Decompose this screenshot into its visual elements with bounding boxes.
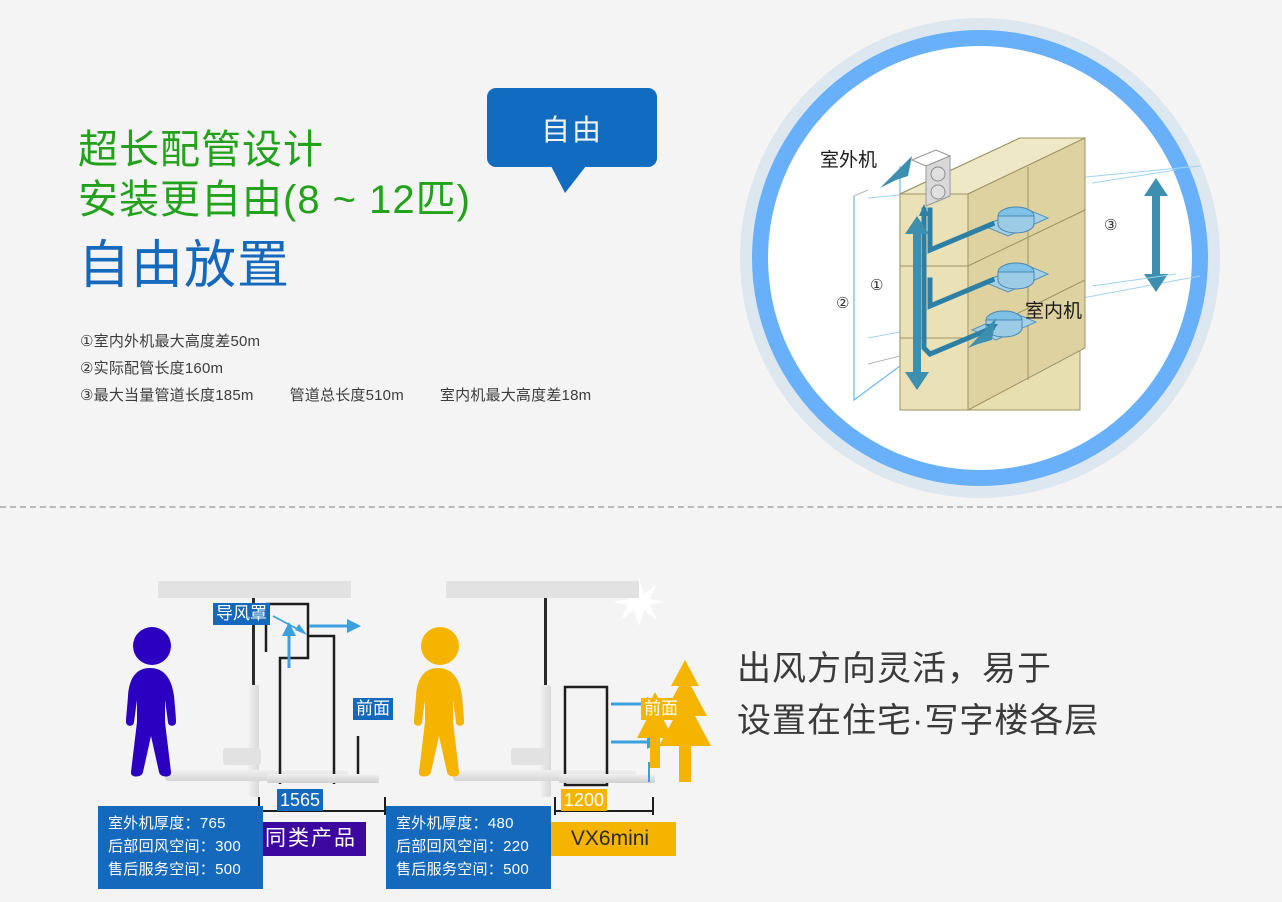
building-isometric-illustration — [740, 18, 1220, 498]
note-item: ②实际配管长度160m — [80, 355, 591, 382]
note-text: 实际配管长度160m — [94, 360, 224, 377]
headline-block: 超长配管设计 安装更自由(8 ~ 12匹) 自由放置 — [78, 125, 471, 301]
unit-base — [267, 774, 379, 783]
note-item-3: ③最大当量管道长度185m管道总长度510m室内机最大高度差18m — [80, 382, 591, 409]
baseboard — [511, 748, 549, 765]
spec-row: 后部回风空间：220 — [396, 835, 541, 858]
note-marker: ③ — [80, 387, 94, 404]
spec-box-vx6mini: 室外机厚度：480 后部回风空间：220 售后服务空间：500 — [386, 806, 551, 889]
diagram-callout-3: ③ — [1104, 216, 1117, 234]
spec-row: 售后服务空间：500 — [396, 858, 541, 881]
comparison-illustration: 导风罩 前面 1565 同类产品 室外机厚度：765 后部回风空间：300 — [95, 570, 695, 880]
label-guide-hood: 导风罩 — [213, 603, 270, 625]
spec-row: 室外机厚度：765 — [108, 812, 253, 835]
spec-value: 500 — [503, 861, 529, 878]
spec-value: 500 — [215, 861, 241, 878]
bubble-tail-icon — [551, 166, 586, 193]
person-figure — [405, 626, 491, 778]
bottom-copy-block: 出风方向灵活，易于 设置在住宅·写字楼各层 — [737, 643, 1099, 747]
free-callout-bubble: 自由 — [487, 88, 657, 167]
spec-value: 300 — [215, 838, 241, 855]
dimension-value-a: 1565 — [277, 789, 323, 811]
note-text-part2: 管道总长度510m — [290, 387, 404, 404]
spec-value: 480 — [488, 815, 514, 832]
airflow-arrows — [267, 610, 377, 670]
note-item: ①室内外机最大高度差50m — [80, 328, 591, 355]
label-front-b: 前面 — [641, 698, 681, 720]
note-text-part1: 最大当量管道长度185m — [94, 387, 254, 404]
spec-row: 后部回风空间：300 — [108, 835, 253, 858]
dimension-value-b: 1200 — [561, 789, 607, 811]
note-text: 室内外机最大高度差50m — [94, 333, 261, 350]
spec-row: 售后服务空间：500 — [108, 858, 253, 881]
spec-label: 后部回风空间： — [108, 838, 215, 855]
person-figure — [117, 626, 203, 778]
spec-box-competitor: 室外机厚度：765 后部回风空间：300 售后服务空间：500 — [98, 806, 263, 889]
spec-value: 765 — [200, 815, 226, 832]
drop-rod — [544, 598, 547, 698]
bubble-label: 自由 — [541, 107, 603, 149]
bottom-copy-line-2: 设置在住宅·写字楼各层 — [737, 695, 1099, 747]
spec-label: 后部回风空间： — [396, 838, 503, 855]
note-text-part3: 室内机最大高度差18m — [440, 387, 591, 404]
headline-line-3: 自由放置 — [78, 231, 471, 301]
spec-label: 售后服务空间： — [108, 861, 215, 878]
spec-label: 售后服务空间： — [396, 861, 503, 878]
note-marker: ② — [80, 360, 94, 377]
spec-label: 室外机厚度： — [396, 815, 488, 832]
product-name-vx6mini: VX6mini — [544, 822, 676, 856]
piping-diagram: 室外机 室内机 ① ② ③ — [740, 18, 1220, 498]
top-section: 超长配管设计 安装更自由(8 ~ 12匹) 自由放置 自由 ①室内外机最大高度差… — [0, 0, 1282, 506]
diagram-callout-1: ① — [870, 276, 883, 294]
diagram-label-indoor-unit: 室内机 — [1025, 296, 1082, 323]
product-name-competitor: 同类产品 — [256, 822, 366, 856]
diagram-label-outdoor-unit: 室外机 — [820, 145, 877, 172]
baseboard — [223, 748, 261, 765]
spec-row: 室外机厚度：480 — [396, 812, 541, 835]
headline-line-1: 超长配管设计 — [78, 125, 471, 175]
section-divider — [0, 506, 1282, 508]
bottom-copy-line-1: 出风方向灵活，易于 — [737, 643, 1099, 695]
spec-value: 220 — [503, 838, 529, 855]
spec-notes-list: ①室内外机最大高度差50m ②实际配管长度160m ③最大当量管道长度185m管… — [80, 328, 591, 409]
diagram-callout-2: ② — [836, 294, 849, 312]
ceiling-slab — [446, 581, 639, 598]
panel-vx6mini: 前面 1200 VX6mini 室外机厚度：480 后部回风空间：220 售 — [383, 570, 673, 880]
tree-icons — [633, 660, 713, 785]
bottom-section: 导风罩 前面 1565 同类产品 室外机厚度：765 后部回风空间：300 — [0, 520, 1282, 902]
panel-competitor: 导风罩 前面 1565 同类产品 室外机厚度：765 后部回风空间：300 — [95, 570, 385, 880]
spec-label: 室外机厚度： — [108, 815, 200, 832]
headline-line-2: 安装更自由(8 ~ 12匹) — [78, 175, 471, 225]
note-marker: ① — [80, 333, 94, 350]
